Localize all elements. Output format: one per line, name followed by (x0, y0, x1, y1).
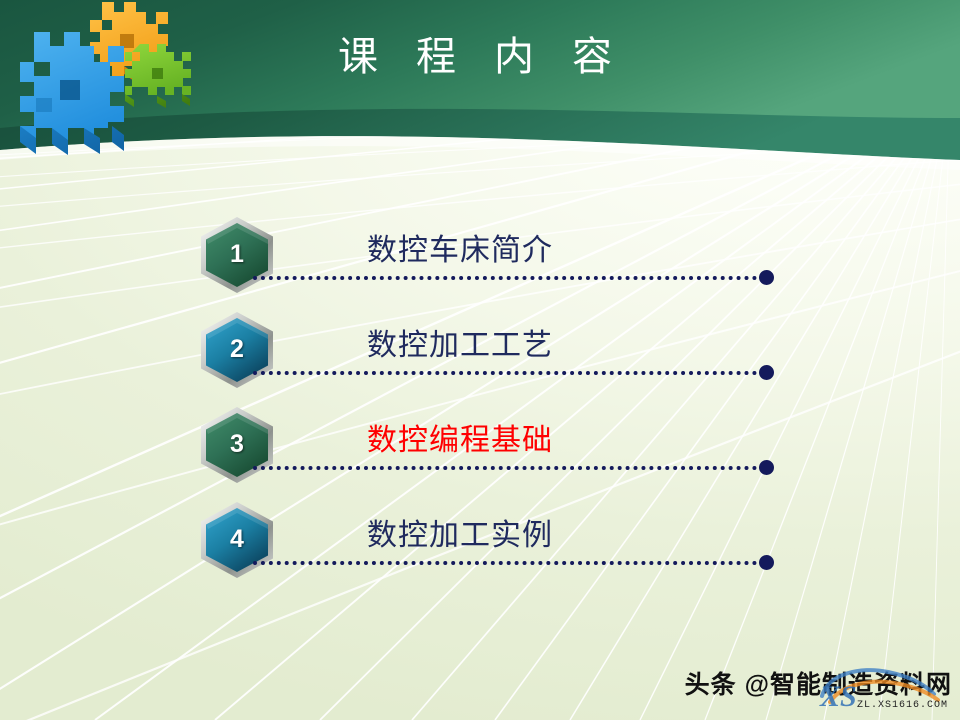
connector-line-4 (253, 561, 765, 565)
gear-cluster-icon (0, 0, 208, 161)
hexagon-badge-2[interactable]: 2 (198, 311, 276, 389)
connector-endpoint-1 (759, 270, 774, 285)
hexagon-badge-3[interactable]: 3 (198, 406, 276, 484)
watermark: 头条 @智能制造资料网 XS ZL.XS1616.COM (685, 660, 952, 712)
agenda-item-3[interactable]: 3 数控编程基础 (0, 398, 960, 494)
agenda-item-4[interactable]: 4 数控加工实例 (0, 493, 960, 589)
agenda-label-2: 数控加工工艺 (367, 320, 553, 364)
badge-number-4: 4 (198, 501, 276, 579)
connector-endpoint-3 (759, 460, 774, 475)
connector-line-1 (253, 276, 765, 280)
connector-endpoint-2 (759, 365, 774, 380)
svg-text:XS: XS (819, 680, 857, 712)
badge-number-3: 3 (198, 406, 276, 484)
agenda-item-1[interactable]: 1 数控车床简介 (0, 208, 960, 304)
connector-line-2 (253, 371, 765, 375)
agenda-label-4: 数控加工实例 (367, 510, 553, 554)
agenda-label-1: 数控车床简介 (367, 225, 553, 269)
badge-number-1: 1 (198, 216, 276, 294)
presentation-slide: 课 程 内 容 (0, 0, 960, 720)
agenda-item-2[interactable]: 2 数控加工工艺 (0, 303, 960, 399)
badge-number-2: 2 (198, 311, 276, 389)
hexagon-badge-4[interactable]: 4 (198, 501, 276, 579)
connector-line-3 (253, 466, 765, 470)
watermark-url: ZL.XS1616.COM (857, 700, 948, 711)
hexagon-badge-1[interactable]: 1 (198, 216, 276, 294)
connector-endpoint-4 (759, 555, 774, 570)
agenda-label-3: 数控编程基础 (367, 415, 553, 459)
